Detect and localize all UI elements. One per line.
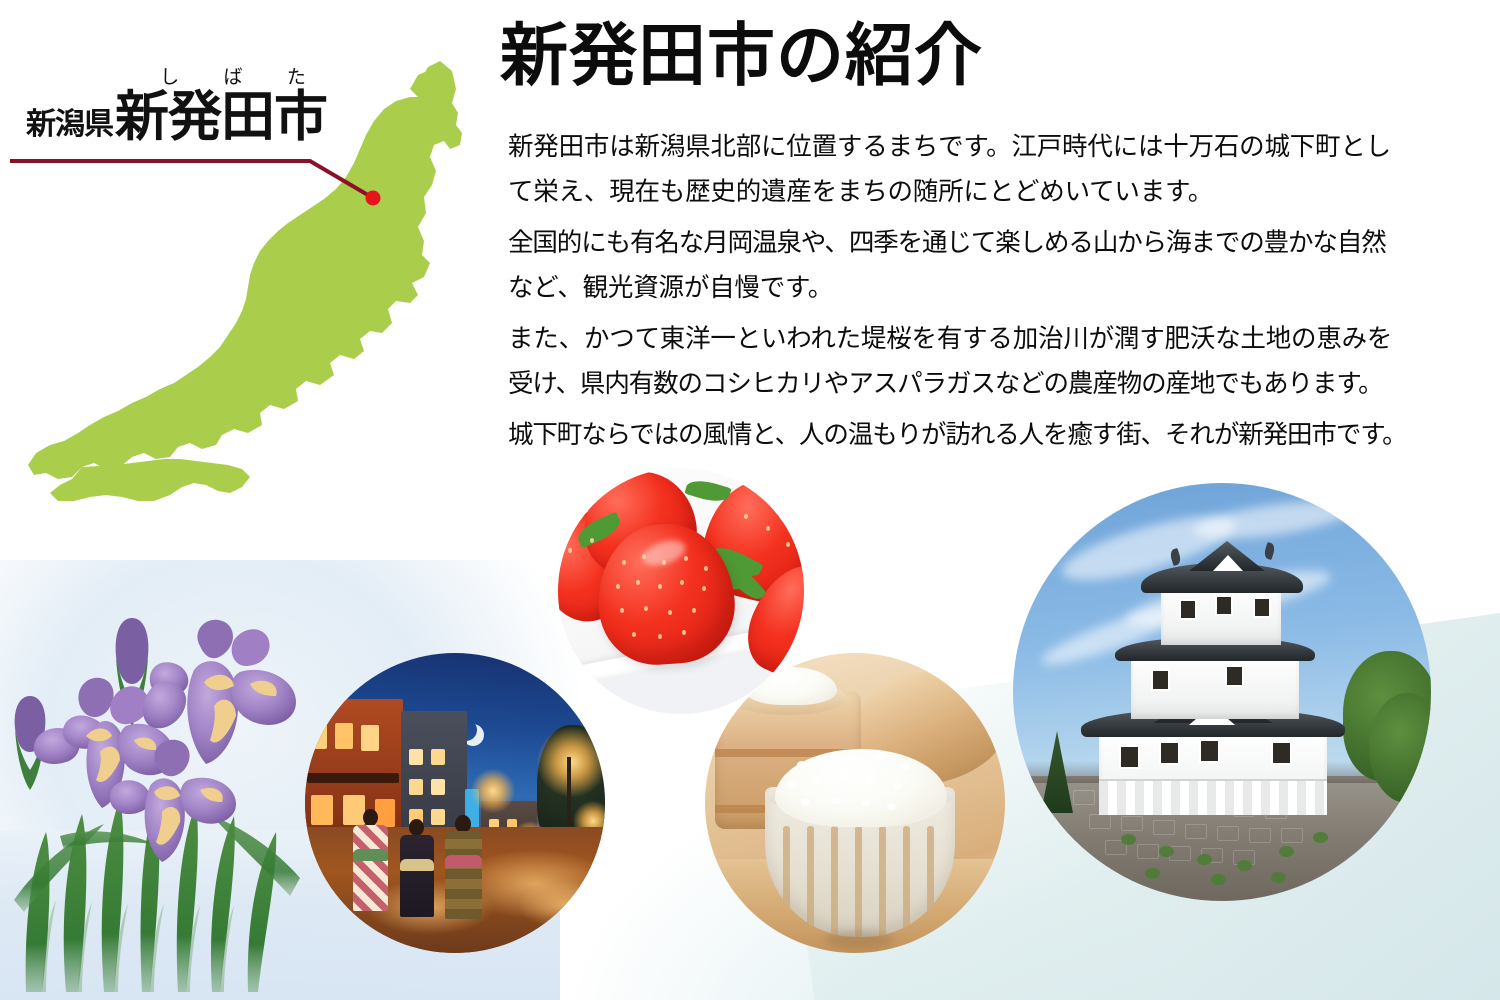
paragraph-3-line-2: 受け、県内有数のコシヒカリやアスパラガスなどの農産物の産地でもあります。: [508, 361, 1460, 406]
page-title: 新発田市の紹介: [500, 22, 983, 90]
tsukioka-onsen-street-photo: [305, 653, 605, 953]
ruby-char-3: た: [287, 62, 306, 89]
paragraph-1-line-2: て栄え、現在も歴史的遺産をまちの随所にとどめいています。: [508, 169, 1460, 214]
paragraph-2: 全国的にも有名な月岡温泉や、四季を通じて楽しめる山から海までの豊かな自然 など、…: [508, 220, 1460, 310]
paragraph-4: 城下町ならではの風情と、人の温もりが訪れる人を癒す街、それが新発田市です。: [508, 412, 1460, 457]
shibata-castle-photo: [1013, 483, 1431, 901]
paragraph-2-line-1: 全国的にも有名な月岡温泉や、四季を通じて楽しめる山から海までの豊かな自然: [508, 220, 1460, 265]
paragraph-4-line-1: 城下町ならではの風情と、人の温もりが訪れる人を癒す街、それが新発田市です。: [508, 412, 1460, 457]
paragraph-2-line-2: など、観光資源が自慢です。: [508, 265, 1460, 310]
paragraph-1: 新発田市は新潟県北部に位置するまちです。江戸時代には十万石の城下町とし て栄え、…: [508, 124, 1460, 214]
ruby-char-2: ば: [223, 62, 242, 89]
prefecture-label: 新潟県: [26, 110, 113, 144]
ruby-char-1: し: [160, 62, 179, 89]
city-logo-block: し ば た 新潟県 新発田市: [18, 62, 348, 172]
city-logo-line: 新潟県 新発田市: [26, 90, 327, 144]
body-copy: 新発田市は新潟県北部に位置するまちです。江戸時代には十万石の城下町とし て栄え、…: [508, 124, 1460, 463]
city-name-ruby: し ば た: [138, 62, 328, 89]
city-label: 新発田市: [115, 90, 327, 144]
paragraph-1-line-1: 新発田市は新潟県北部に位置するまちです。江戸時代には十万石の城下町とし: [508, 124, 1460, 169]
city-marker-dot: [366, 191, 381, 206]
paragraph-3-line-1: また、かつて東洋一といわれた堤桜を有する加治川が潤す肥沃な土地の恵みを: [508, 316, 1460, 361]
paragraph-3: また、かつて東洋一といわれた堤桜を有する加治川が潤す肥沃な土地の恵みを 受け、県…: [508, 316, 1460, 406]
iris-flowers-illustration: [8, 600, 308, 995]
koshihikari-rice-bowl-photo: [705, 653, 1005, 953]
page-canvas: し ば た 新潟県 新発田市 新発田市の紹介 新発田市は新潟県北部に位置するまち…: [0, 0, 1500, 1000]
